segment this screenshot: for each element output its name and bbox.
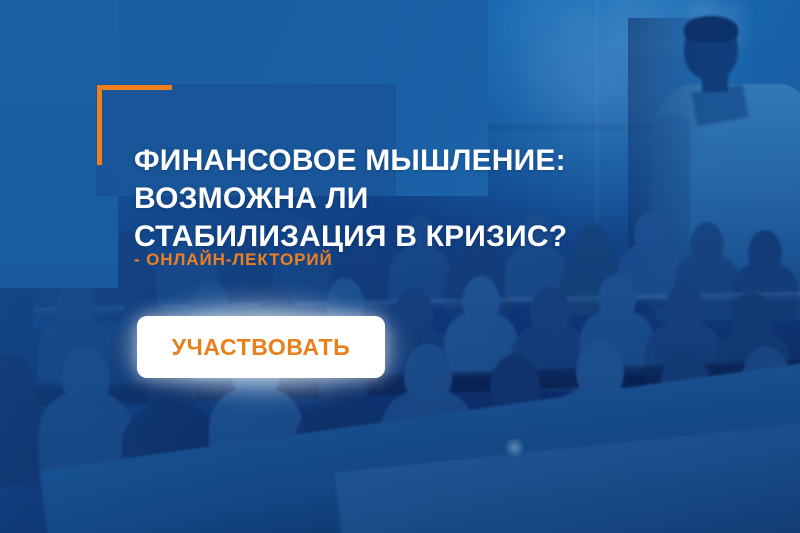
subtitle: - Онлайн-лекторий bbox=[134, 250, 333, 270]
page-title: Финансовое мышление: Возможна ли стабили… bbox=[134, 142, 654, 256]
cta-container: Участвовать bbox=[137, 316, 385, 378]
headline-line-2: Возможна ли bbox=[134, 180, 654, 218]
headline-line-1: Финансовое мышление: bbox=[134, 142, 654, 180]
promo-banner: Финансовое мышление: Возможна ли стабили… bbox=[0, 0, 800, 533]
banner-content: Финансовое мышление: Возможна ли стабили… bbox=[0, 0, 800, 533]
bracket-vertical-bar bbox=[97, 85, 102, 165]
bracket-horizontal-bar bbox=[97, 85, 172, 90]
participate-button[interactable]: Участвовать bbox=[137, 316, 385, 378]
